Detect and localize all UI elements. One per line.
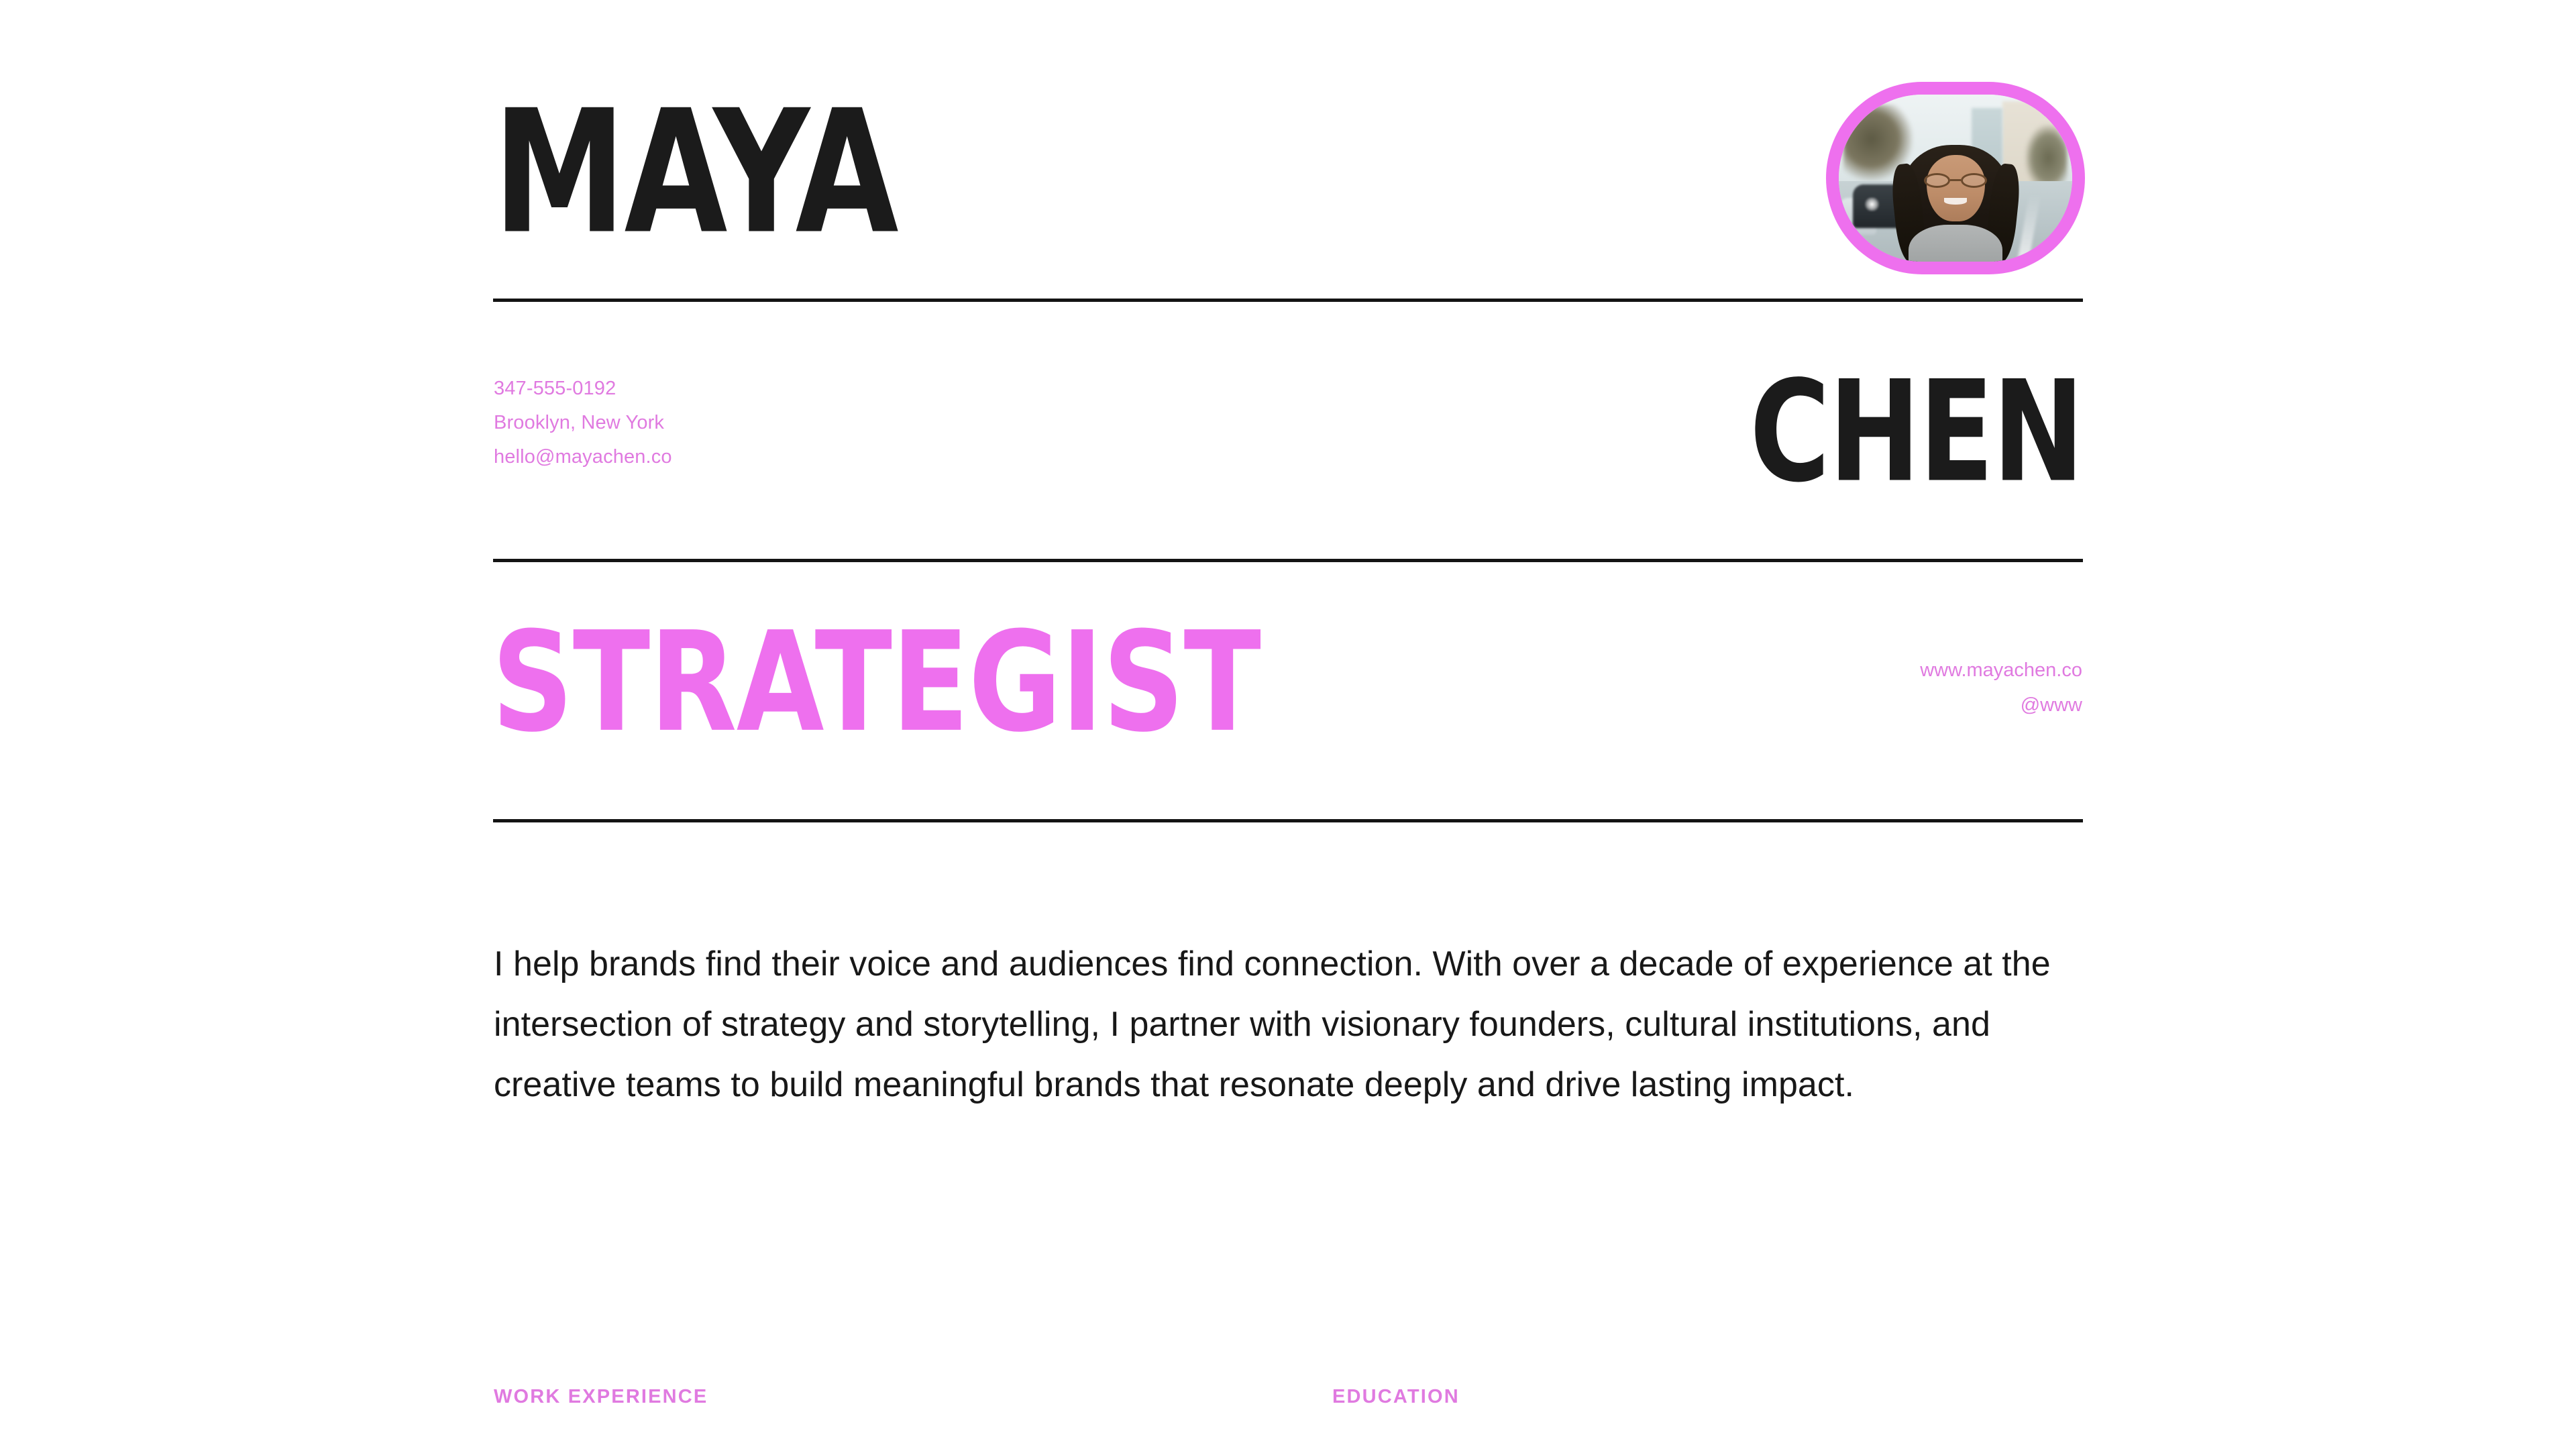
first-name-heading: MAYA — [493, 87, 897, 258]
photo-person-torso — [1909, 225, 2002, 262]
contact-block: 347-555-0192 Brooklyn, New York hello@ma… — [494, 379, 672, 467]
section-label-education: EDUCATION — [1332, 1387, 1460, 1407]
glasses-lens-left — [1924, 173, 1950, 188]
bio-paragraph: I help brands find their voice and audie… — [494, 934, 2084, 1115]
contact-phone[interactable]: 347-555-0192 — [494, 379, 672, 398]
glasses-bridge — [1950, 179, 1960, 181]
divider-top — [493, 299, 2083, 302]
photo-person-face — [1927, 155, 1985, 222]
contact-email[interactable]: hello@mayachen.co — [494, 447, 672, 467]
contact-location: Brooklyn, New York — [494, 413, 672, 433]
photo-headlight-left — [1864, 197, 1880, 211]
last-name-heading: CHEN — [1750, 362, 2083, 502]
divider-middle — [493, 559, 2083, 562]
role-title: STRATEGIST — [492, 614, 1260, 751]
web-links-block: www.mayachen.co @www — [1920, 661, 2082, 715]
section-label-work-experience: WORK EXPERIENCE — [494, 1387, 708, 1407]
website-link[interactable]: www.mayachen.co — [1920, 661, 2082, 680]
divider-bottom — [493, 819, 2083, 822]
avatar — [1826, 82, 2085, 274]
social-handle[interactable]: @www — [2021, 696, 2082, 715]
avatar-photo — [1839, 95, 2072, 262]
photo-person-glasses — [1924, 173, 1987, 188]
resume-page: MAYA 347-555-019 — [0, 0, 2576, 1449]
glasses-lens-right — [1961, 173, 1987, 188]
